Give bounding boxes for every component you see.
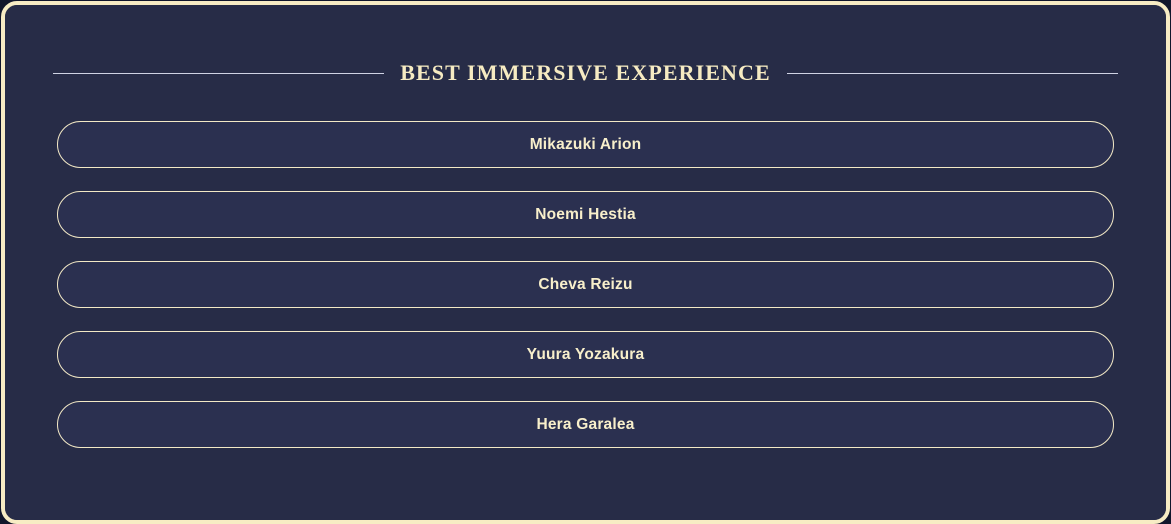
nominee-name: Yuura Yozakura — [527, 347, 645, 363]
page-title: BEST IMMERSIVE EXPERIENCE — [400, 62, 771, 84]
section-title-row: BEST IMMERSIVE EXPERIENCE — [53, 57, 1118, 89]
nominee-item-5[interactable]: Hera Garalea — [57, 401, 1114, 448]
nominee-name: Noemi Hestia — [535, 207, 636, 223]
nominee-name: Hera Garalea — [536, 417, 634, 433]
title-rule-right — [787, 73, 1118, 74]
award-frame: BEST IMMERSIVE EXPERIENCE Mikazuki Arion… — [1, 1, 1170, 524]
nominee-item-2[interactable]: Noemi Hestia — [57, 191, 1114, 238]
nominee-item-3[interactable]: Cheva Reizu — [57, 261, 1114, 308]
nominee-list: Mikazuki Arion Noemi Hestia Cheva Reizu … — [57, 121, 1114, 448]
nominee-item-4[interactable]: Yuura Yozakura — [57, 331, 1114, 378]
title-rule-left — [53, 73, 384, 74]
award-panel: BEST IMMERSIVE EXPERIENCE Mikazuki Arion… — [5, 5, 1166, 520]
nominee-item-1[interactable]: Mikazuki Arion — [57, 121, 1114, 168]
nominee-name: Mikazuki Arion — [530, 137, 642, 153]
nominee-name: Cheva Reizu — [538, 277, 632, 293]
